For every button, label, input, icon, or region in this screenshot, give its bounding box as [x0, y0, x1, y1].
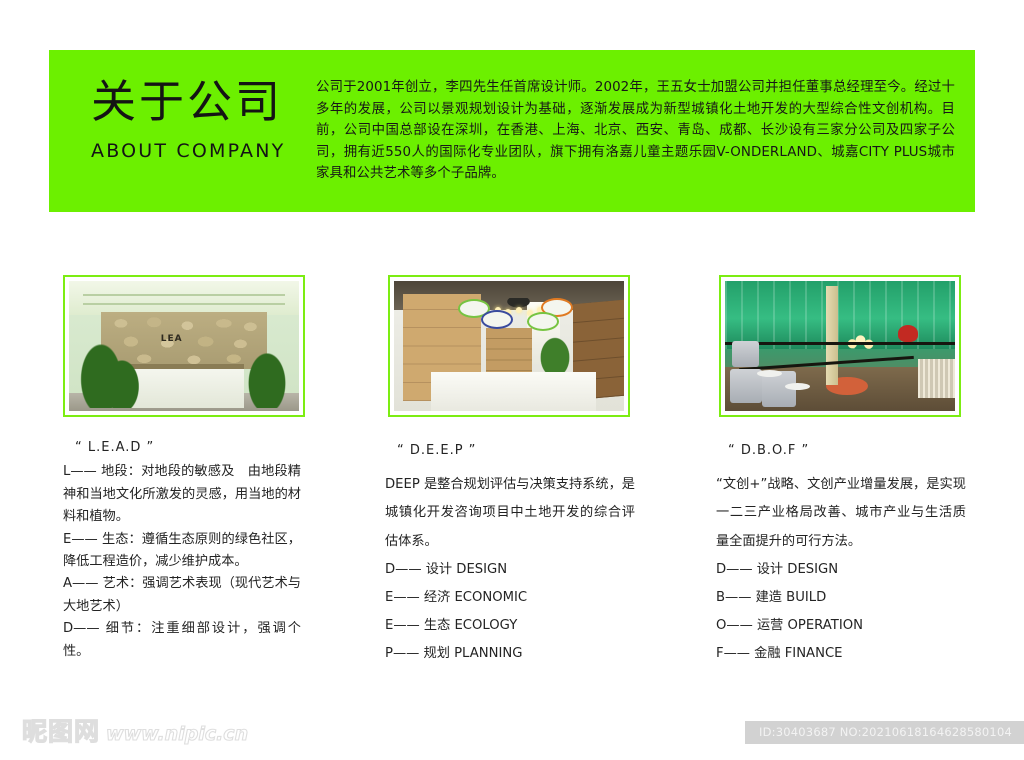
company-description: 公司于2001年创立，李四先生任首席设计师。2002年，王五女士加盟公司并担任董… — [316, 77, 955, 185]
column-paragraph: D—— 细节：注重细部设计，强调个性。 — [63, 618, 301, 663]
column-body: DEEP 是整合规划评估与决策支持系统，是城镇化开发咨询项目中土地开发的综合评估… — [385, 471, 635, 668]
photo-ceiling — [69, 281, 299, 315]
column-list-item: O—— 运营 OPERATION — [716, 612, 966, 640]
photo-railing — [725, 342, 955, 345]
page-title: 关于公司 — [91, 74, 306, 130]
column-body: L—— 地段：对地段的敏感及 由地段精神和当地文化所激发的灵感，用当地的材料和植… — [63, 461, 301, 663]
photo-plant — [101, 354, 142, 409]
photo-image-atrium — [725, 281, 955, 411]
photo-beam — [83, 303, 285, 305]
page-subtitle: ABOUT COMPANY — [91, 140, 306, 162]
photo-card-studio — [388, 275, 630, 417]
column-paragraph: “文创+”战略、文创产业增量发展，是实现一二三产业格局改善、城市产业与生活质量全… — [716, 471, 966, 556]
column-title: “ D.E.E.P ” — [397, 437, 635, 465]
image-id-badge: ID:30403687 NO:20210618164628580104 — [745, 721, 1024, 744]
column-body: “文创+”战略、文创产业增量发展，是实现一二三产业格局改善、城市产业与生活质量全… — [716, 471, 966, 668]
photo-counter — [431, 372, 597, 411]
site-watermark: 昵图网www.nipic.cn — [22, 719, 248, 744]
column-paragraph: L—— 地段：对地段的敏感及 由地段精神和当地文化所激发的灵感，用当地的材料和植… — [63, 461, 301, 528]
column-title: “ D.B.O.F ” — [728, 437, 966, 465]
column-paragraph: E—— 生态：遵循生态原则的绿色社区，降低工程造价，减少维护成本。 — [63, 529, 301, 574]
column-list-item: E—— 生态 ECOLOGY — [385, 612, 635, 640]
column-list-item: E—— 经济 ECONOMIC — [385, 584, 635, 612]
column-dbof: “ D.B.O.F ” “文创+”战略、文创产业增量发展，是实现一二三产业格局改… — [716, 437, 966, 669]
column-list-item: B—— 建造 BUILD — [716, 584, 966, 612]
photo-sofa — [732, 341, 760, 367]
about-company-banner: 关于公司 ABOUT COMPANY 公司于2001年创立，李四先生任首席设计师… — [49, 50, 975, 212]
column-list-item: D—— 设计 DESIGN — [385, 556, 635, 584]
column-title: “ L.E.A.D ” — [75, 437, 301, 459]
watermark-logo-text: 昵图网 — [22, 717, 100, 746]
column-paragraph: A—— 艺术：强调艺术表现（现代艺术与大地艺术） — [63, 573, 301, 618]
watermark-url-text: www.nipic.cn — [106, 723, 248, 745]
photo-red-seat — [898, 325, 919, 342]
photo-wall-logo: LEA — [161, 334, 183, 344]
photo-card-atrium — [719, 275, 961, 417]
photo-column — [826, 286, 838, 385]
photo-callout-bubble — [481, 310, 513, 329]
photo-gallery: LEA — [0, 275, 1024, 420]
photo-plant — [244, 346, 290, 408]
column-deep: “ D.E.E.P ” DEEP 是整合规划评估与决策支持系统，是城镇化开发咨询… — [385, 437, 635, 669]
banner-text-group: 公司于2001年创立，李四先生任首席设计师。2002年，王五女士加盟公司并担任董… — [306, 50, 975, 185]
photo-image-studio — [394, 281, 624, 411]
column-lead: “ L.E.A.D ” L—— 地段：对地段的敏感及 由地段精神和当地文化所激发… — [63, 437, 301, 663]
photo-image-reception: LEA — [69, 281, 299, 411]
photo-beam — [83, 294, 285, 296]
column-paragraph: DEEP 是整合规划评估与决策支持系统，是城镇化开发咨询项目中土地开发的综合评估… — [385, 471, 635, 556]
column-list-item: F—— 金融 FINANCE — [716, 640, 966, 668]
banner-heading-group: 关于公司 ABOUT COMPANY — [49, 50, 306, 162]
photo-blinds — [918, 359, 955, 398]
column-list-item: P—— 规划 PLANNING — [385, 640, 635, 668]
photo-card-reception: LEA — [63, 275, 305, 417]
column-list-item: D—— 设计 DESIGN — [716, 556, 966, 584]
